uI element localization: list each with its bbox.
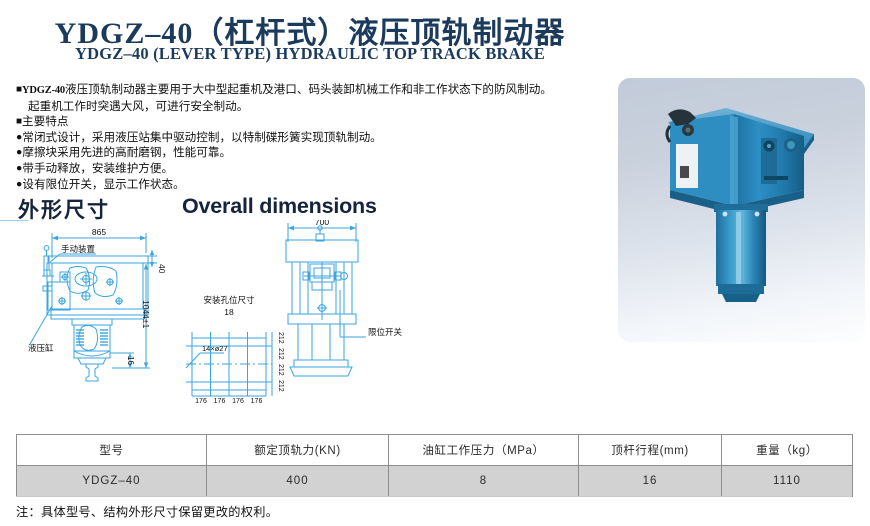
label-hole-spec: 14×ø27 — [202, 344, 228, 353]
column-header-rod-stroke: 顶杆行程(mm) — [579, 435, 722, 466]
column-header-rated-force: 额定顶轨力(KN) — [207, 435, 389, 466]
dim-label-176: 176 — [251, 398, 263, 405]
column-header-model: 型号 — [17, 435, 207, 466]
label-hole-pattern-title: 安装孔位尺寸 — [203, 295, 255, 305]
specification-table: 型号 额定顶轨力(KN) 油缸工作压力（MPa） 顶杆行程(mm) 重量（kg）… — [16, 434, 853, 497]
dim-label-212: 212 — [277, 380, 284, 392]
page-title-english: YDGZ–40 (LEVER TYPE) HYDRAULIC TOP TRACK… — [0, 44, 620, 64]
drawings-svg: 865 手动装置 40 1044±1 16 液压缸 安装孔位尺寸 18 14×ø… — [0, 220, 440, 420]
label-manual-device: 手动装置 — [61, 244, 96, 254]
product-photo-panel — [618, 78, 865, 342]
intro-text-1: 液压顶轨制动器主要用于大中型起重机及港口、码头装卸机械工作和非工作状态下的防风制… — [65, 83, 552, 96]
cell-rod-stroke: 16 — [579, 466, 722, 497]
side-view — [286, 223, 366, 376]
dim-label-1044: 1044±1 — [141, 300, 151, 329]
table-header-row: 型号 额定顶轨力(KN) 油缸工作压力（MPa） 顶杆行程(mm) 重量（kg） — [17, 435, 853, 466]
cell-weight: 1110 — [722, 466, 853, 497]
hole-pattern-detail — [186, 332, 272, 396]
feature-item: ●带手动释放，安装维护方便。 — [16, 161, 616, 177]
dim-label-212: 212 — [277, 364, 284, 376]
table-row: YDGZ–40 400 8 16 1110 — [17, 466, 853, 497]
dim-label-212: 212 — [277, 332, 284, 344]
feature-item: ●设有限位开关，显示工作状态。 — [16, 177, 616, 193]
dim-label-212: 212 — [277, 348, 284, 360]
footer-divider — [16, 496, 852, 497]
dim-label-40: 40 — [157, 264, 167, 274]
product-photo — [618, 78, 865, 342]
feature-item: ●常闭式设计，采用液压站集中驱动控制，以特制碟形簧实现顶轨制动。 — [16, 130, 616, 146]
label-hydraulic-cylinder: 液压缸 — [28, 343, 54, 353]
cell-working-pressure: 8 — [389, 466, 579, 497]
dim-label-16: 16 — [126, 356, 135, 365]
intro-model-code: YDGZ-40 — [22, 85, 65, 96]
intro-line-1: ■YDGZ-40液压顶轨制动器主要用于大中型起重机及港口、码头装卸机械工作和非工… — [16, 82, 616, 99]
description-block: ■YDGZ-40液压顶轨制动器主要用于大中型起重机及港口、码头装卸机械工作和非工… — [16, 82, 616, 192]
label-limit-switch: 限位开关 — [368, 327, 403, 337]
column-header-weight: 重量（kg） — [722, 435, 853, 466]
feature-text: 设有限位开关，显示工作状态。 — [22, 178, 184, 191]
feature-text: 带手动释放，安装维护方便。 — [22, 162, 173, 175]
feature-text: 常闭式设计，采用液压站集中驱动控制，以特制碟形簧实现顶轨制动。 — [22, 131, 381, 144]
label-hole-pattern-subtitle: 18 — [224, 307, 234, 317]
cell-model: YDGZ–40 — [17, 466, 207, 497]
feature-text: 摩擦块采用先进的高耐磨钢，性能可靠。 — [22, 146, 231, 159]
feature-item: ●摩擦块采用先进的高耐磨钢，性能可靠。 — [16, 145, 616, 161]
dim-label-865: 865 — [92, 227, 106, 237]
dim-label-700: 700 — [315, 220, 329, 227]
features-heading: ■主要特点 — [16, 114, 616, 130]
features-heading-label: 主要特点 — [22, 115, 68, 128]
intro-line-2: 起重机工作时突遇大风，可进行安全制动。 — [16, 99, 616, 115]
dim-label-176: 176 — [195, 398, 207, 405]
column-header-working-pressure: 油缸工作压力（MPa） — [389, 435, 579, 466]
technical-drawings: 865 手动装置 40 1044±1 16 液压缸 安装孔位尺寸 18 14×ø… — [0, 220, 440, 420]
footer-note: 注：具体型号、结构外形尺寸保留更改的权利。 — [16, 502, 278, 520]
product-spec-sheet: YDGZ–40（杠杆式）液压顶轨制动器 YDGZ–40 (LEVER TYPE)… — [0, 0, 870, 526]
section-heading-english: Overall dimensions — [182, 194, 377, 219]
dim-label-176: 176 — [232, 398, 244, 405]
dim-label-176: 176 — [214, 398, 226, 405]
cell-rated-force: 400 — [207, 466, 389, 497]
